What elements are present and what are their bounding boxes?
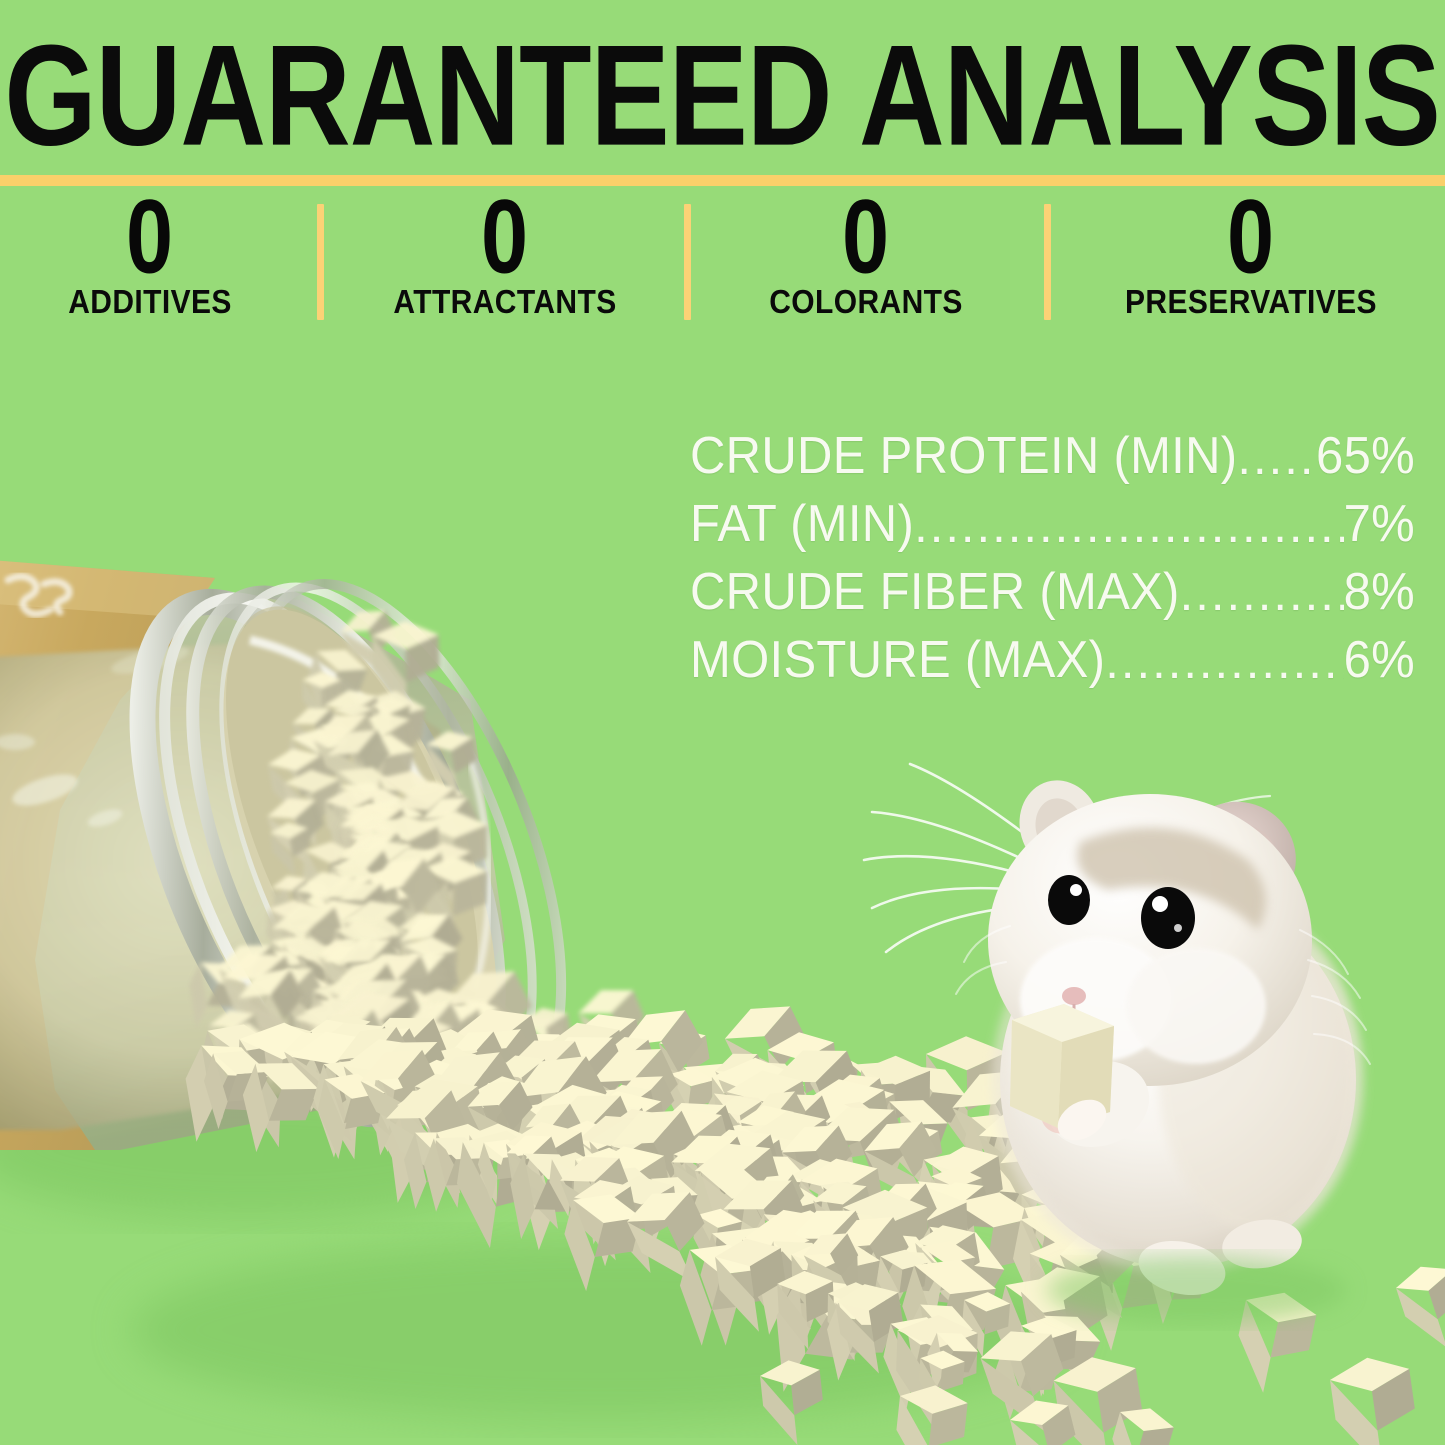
nutrition-value: 8% <box>1344 556 1415 628</box>
stat-colorants-label: COLORANTS <box>706 288 1026 322</box>
stat-preservatives-value: 0 <box>1066 196 1436 292</box>
stat-additives-value: 0 <box>0 196 300 292</box>
stat-colorants: 0 COLORANTS <box>706 196 1026 336</box>
stat-additives-label: ADDITIVES <box>0 288 300 322</box>
product-infographic: GUARANTEED ANALYSIS 0 ADDITIVES 0 ATTRAC… <box>0 0 1445 1445</box>
stat-separator-3 <box>1044 204 1051 320</box>
stat-attractants-value: 0 <box>340 196 670 292</box>
jar-neck-rings <box>81 542 625 1155</box>
stat-attractants-label: ATTRACTANTS <box>340 288 670 322</box>
nutrition-label: CRUDE PROTEIN (MIN) <box>690 420 1237 492</box>
jar-group <box>0 542 625 1155</box>
nutrition-row-crude-protein: CRUDE PROTEIN (MIN) ......... 65% <box>690 424 1415 492</box>
nutrition-value: 7% <box>1344 488 1415 560</box>
nutrition-value: 65% <box>1316 420 1415 492</box>
held-treat-cube <box>1010 1004 1114 1128</box>
guaranteed-analysis-list: CRUDE PROTEIN (MIN) ......... 65% FAT (M… <box>690 424 1415 696</box>
nutrition-row-crude-fiber: CRUDE FIBER (MAX) ................ 8% <box>690 560 1415 628</box>
stats-row: 0 ADDITIVES 0 ATTRACTANTS 0 COLORANTS 0 … <box>0 196 1445 336</box>
treat-cubes <box>163 601 1445 1445</box>
nutrition-label: MOISTURE (MAX) <box>690 624 1105 696</box>
hamster-eyes <box>1048 875 1195 949</box>
nutrition-dots: .................... <box>1105 628 1343 696</box>
nutrition-label: CRUDE FIBER (MAX) <box>690 556 1180 628</box>
nutrition-row-moisture: MOISTURE (MAX) .................... 6% <box>690 628 1415 696</box>
stat-preservatives: 0 PRESERVATIVES <box>1066 196 1436 336</box>
nutrition-label: FAT (MIN) <box>690 488 914 560</box>
stat-colorants-value: 0 <box>706 196 1026 292</box>
page-title: GUARANTEED ANALYSIS <box>40 42 1405 150</box>
nutrition-dots: .............................. <box>914 492 1343 560</box>
stat-separator-2 <box>684 204 691 320</box>
stat-additives: 0 ADDITIVES <box>0 196 300 336</box>
nutrition-value: 6% <box>1344 624 1415 696</box>
stat-preservatives-label: PRESERVATIVES <box>1066 288 1436 322</box>
stat-attractants: 0 ATTRACTANTS <box>340 196 670 336</box>
stat-separator-1 <box>317 204 324 320</box>
nutrition-row-fat: FAT (MIN) ..............................… <box>690 492 1415 560</box>
nutrition-dots: ................ <box>1180 560 1344 628</box>
nutrition-dots: ......... <box>1237 424 1316 492</box>
hamster-group <box>864 764 1370 1324</box>
page-title-text: GUARANTEED ANALYSIS <box>5 27 1440 165</box>
